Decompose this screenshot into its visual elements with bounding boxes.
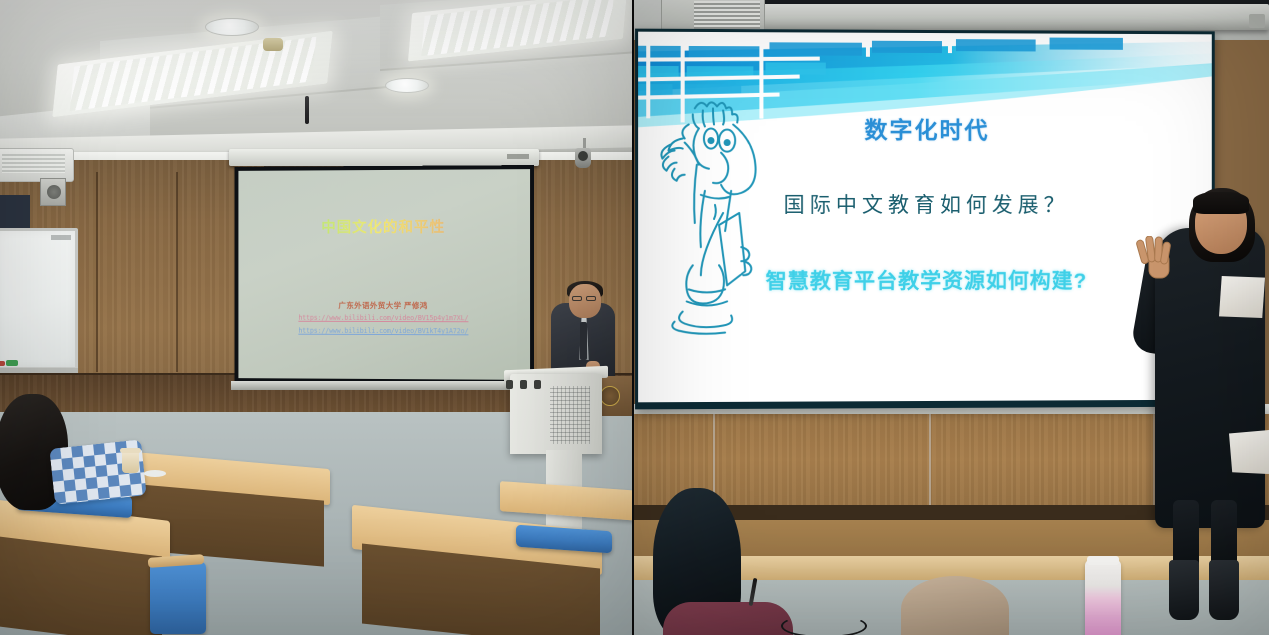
chair (150, 562, 206, 634)
wall-seam (176, 172, 178, 372)
presenter-bangs (1193, 192, 1249, 214)
water-bottle (1085, 560, 1121, 635)
podium-emblem (600, 386, 620, 406)
cable (781, 614, 867, 635)
slide-right: 数字化时代 国际中文教育如何发展？ 智慧教育平台教学资源如何构建? (638, 32, 1212, 403)
marker-green (6, 360, 18, 366)
left-lecture-photo: 中国文化的和平性 广东外语外贸大学 严修鸿 https://www.bilibi… (0, 0, 633, 635)
wall-seam (929, 414, 931, 510)
podium-control[interactable] (520, 380, 527, 389)
slide-title: 数字化时代 (638, 110, 1212, 145)
ceiling-beam (745, 4, 1269, 30)
projection-screen-left: 中国文化的和平性 广东外语外贸大学 严修鸿 https://www.bilibi… (235, 165, 535, 384)
slide-link-1[interactable]: https://www.bilibili.com/video/BV15p4y1m… (238, 314, 530, 323)
slide-author: 广东外语外贸大学 严修鸿 (238, 300, 530, 312)
screenshot-stage: 中国文化的和平性 广东外语外贸大学 严修鸿 https://www.bilibi… (0, 0, 1269, 635)
whiteboard (0, 228, 78, 370)
slide-left: 中国文化的和平性 广东外语外贸大学 严修鸿 https://www.bilibi… (238, 169, 530, 380)
podium-control[interactable] (506, 380, 513, 389)
slide-link-2[interactable]: https://www.bilibili.com/video/BV1kT4y1A… (238, 327, 530, 336)
podium (510, 374, 602, 454)
saucer (144, 470, 166, 477)
ceiling-projector (0, 148, 74, 182)
wall-speaker (40, 178, 66, 206)
ceiling-downlight (385, 78, 429, 93)
smoke-detector-icon (263, 38, 283, 51)
slide-question-2: 智慧教育平台教学资源如何构建? (638, 265, 1212, 296)
speaker-head (569, 284, 601, 318)
wall-seam (96, 172, 98, 372)
coat-white-panel (1219, 276, 1265, 318)
glasses-icon (586, 296, 596, 301)
presenter-boot (1169, 560, 1199, 620)
presenter-boot (1209, 560, 1239, 620)
podium-control[interactable] (534, 380, 541, 389)
ceiling-downlight (205, 18, 259, 36)
podium-speaker-grille (550, 386, 590, 444)
glasses-icon (572, 296, 582, 301)
screen-roller (229, 149, 539, 166)
projection-screen-right: 数字化时代 国际中文教育如何发展？ 智慧教育平台教学资源如何构建? (635, 29, 1215, 410)
speaker-tie (580, 322, 587, 360)
beam-end-cap (1249, 14, 1265, 28)
antenna (305, 96, 309, 124)
coat-white-panel (1229, 430, 1269, 474)
right-lecture-photo: 数字化时代 国际中文教育如何发展？ 智慧教育平台教学资源如何构建? (633, 0, 1269, 635)
presenter-hand (1135, 236, 1173, 282)
wall-camera-icon (575, 148, 591, 168)
cup-lid (120, 448, 141, 453)
screen-bottom-bar (231, 381, 537, 390)
audience-cap (901, 576, 1009, 635)
whiteboard-label (51, 235, 71, 240)
marker-red (0, 361, 5, 366)
paper-cup (122, 451, 139, 473)
audience-shoulders (663, 602, 793, 635)
bottle-cap (1087, 556, 1119, 565)
panel-divider (632, 0, 634, 635)
slide-title: 中国文化的和平性 (238, 215, 530, 237)
slide-question-1: 国际中文教育如何发展？ (638, 189, 1212, 219)
